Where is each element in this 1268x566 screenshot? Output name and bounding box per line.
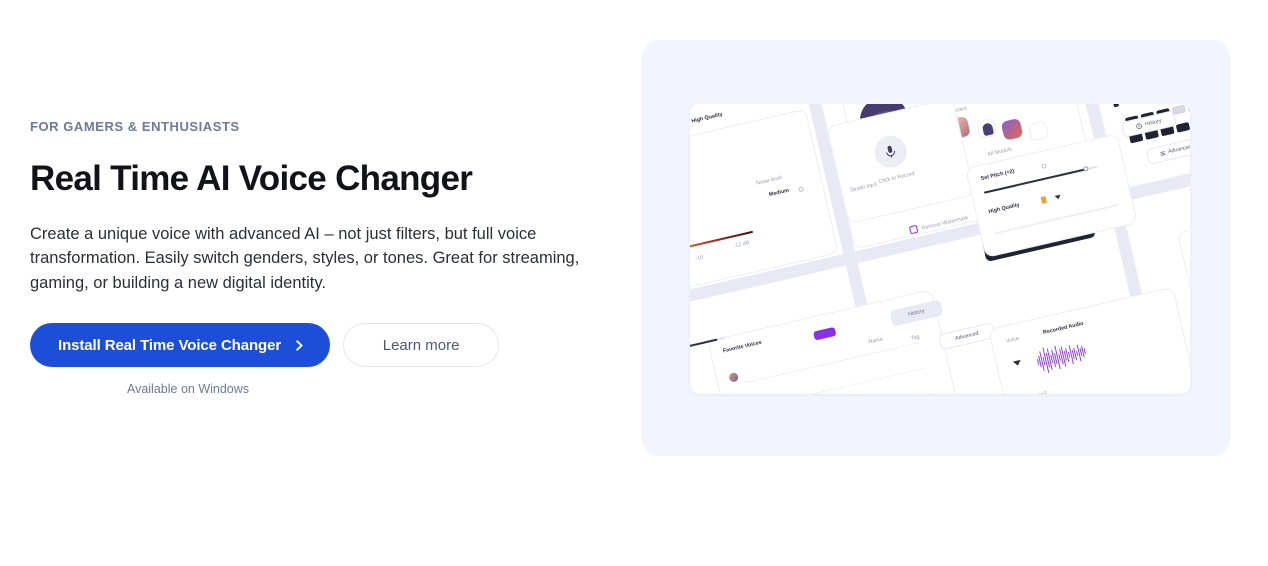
advanced-button-list[interactable]: Advanced: [938, 322, 996, 350]
hero-page: FOR GAMERS & ENTHUSIASTS Real Time AI Vo…: [0, 0, 1268, 566]
availability-note: Available on Windows: [30, 382, 346, 396]
voice-avatar: [1001, 118, 1024, 141]
learn-more-button[interactable]: Learn more: [343, 323, 499, 367]
voice-avatar: [976, 118, 998, 140]
hero-description: Create a unique voice with advanced AI –…: [30, 222, 604, 295]
showcase-card: Quality Mode Performance Background Nois…: [642, 40, 1230, 456]
audio-waveform: [1034, 337, 1088, 375]
install-button-label: Install Real Time Voice Changer: [58, 337, 281, 354]
hero-eyebrow: FOR GAMERS & ENTHUSIASTS: [30, 118, 610, 136]
app-collage: Quality Mode Performance Background Nois…: [690, 104, 1190, 394]
app-screenshot: Quality Mode Performance Background Nois…: [690, 104, 1190, 394]
cta-row: Install Real Time Voice Changer Learn mo…: [30, 323, 610, 367]
page-title: Real Time AI Voice Changer: [30, 158, 610, 200]
hero-text-column: FOR GAMERS & ENTHUSIASTS Real Time AI Vo…: [30, 118, 610, 396]
voice-avatar-add: [1028, 120, 1050, 142]
microphone-icon[interactable]: [871, 133, 909, 171]
install-button[interactable]: Install Real Time Voice Changer: [30, 323, 330, 367]
new-badge: [813, 327, 836, 341]
pane-waveform: Voice Recorded Audio Output mp3: [988, 287, 1190, 394]
chevron-right-icon: [294, 340, 305, 351]
label-high-quality: High Quality: [691, 112, 723, 125]
